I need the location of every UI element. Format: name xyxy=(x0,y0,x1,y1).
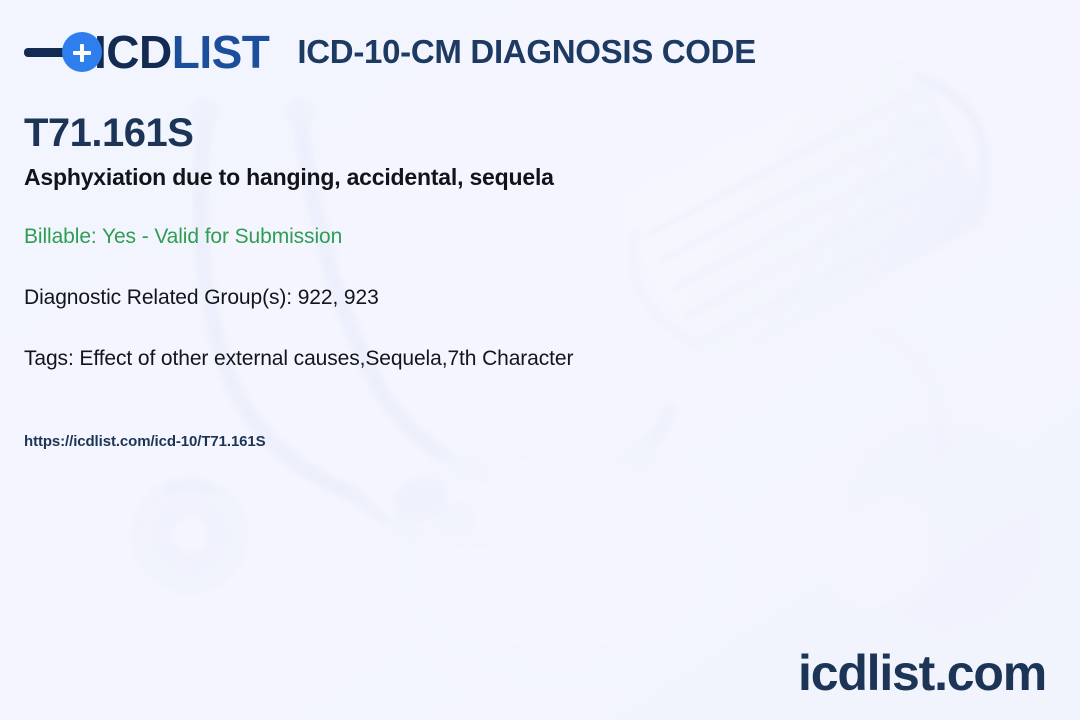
logo-word-icd: ICD xyxy=(94,26,172,78)
diagnosis-code: T71.161S xyxy=(24,110,1024,156)
code-details: T71.161S Asphyxiation due to hanging, ac… xyxy=(24,110,1024,451)
logo-wordmark: ICDLIST xyxy=(94,29,269,75)
page-title: ICD-10-CM DIAGNOSIS CODE xyxy=(297,33,756,71)
billable-status: Billable: Yes - Valid for Submission xyxy=(24,224,1024,249)
site-watermark: icdlist.com xyxy=(798,648,1046,698)
plus-circle-icon xyxy=(62,32,102,72)
icdlist-logo[interactable]: ICDLIST xyxy=(24,24,269,80)
code-tags: Tags: Effect of other external causes,Se… xyxy=(24,346,1024,371)
code-description: Asphyxiation due to hanging, accidental,… xyxy=(24,164,1024,192)
page-header: ICDLIST ICD-10-CM DIAGNOSIS CODE xyxy=(24,24,756,80)
source-url[interactable]: https://icdlist.com/icd-10/T71.161S xyxy=(24,433,1024,451)
logo-word-list: LIST xyxy=(172,26,270,78)
icd-code-card: ICDLIST ICD-10-CM DIAGNOSIS CODE T71.161… xyxy=(0,0,1080,720)
diagnostic-related-groups: Diagnostic Related Group(s): 922, 923 xyxy=(24,285,1024,310)
